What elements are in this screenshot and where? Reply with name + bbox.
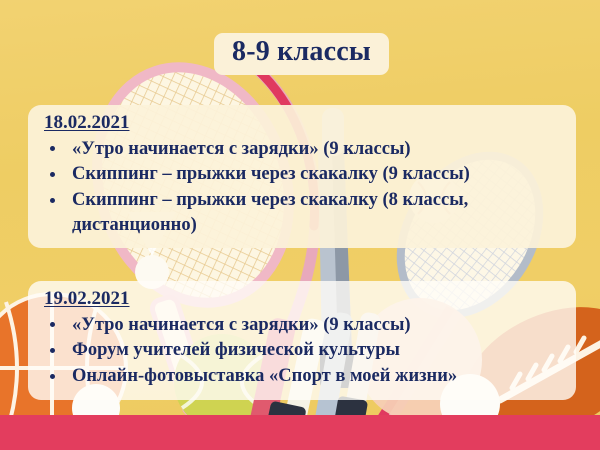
bullet-dot-icon [50,374,55,379]
event-label: Форум учителей физической культуры [72,340,400,360]
poster-canvas: 8-9 классы 18.02.2021 «Утро начинается с… [0,0,600,450]
schedule-panel-day-2: 19.02.2021 «Утро начинается с зарядки» (… [28,281,576,400]
list-item: «Утро начинается с зарядки» (9 классы) [36,313,564,338]
list-item: Скиппинг – прыжки через скакалку (9 клас… [36,162,564,187]
list-item: Онлайн-фотовыставка «Спорт в моей жизни» [36,364,564,389]
bullet-dot-icon [50,146,55,151]
date-heading-2: 19.02.2021 [44,288,130,310]
date-heading-1: 18.02.2021 [44,112,130,134]
event-label: Скиппинг – прыжки через скакалку (9 клас… [72,164,470,184]
bullet-dot-icon [50,322,55,327]
event-label: Онлайн-фотовыставка «Спорт в моей жизни» [72,366,457,386]
bottom-accent-bar [0,415,600,450]
event-label: «Утро начинается с зарядки» (9 классы) [72,315,411,335]
poster-title-chip: 8-9 классы [214,33,389,75]
schedule-panel-day-1: 18.02.2021 «Утро начинается с зарядки» (… [28,105,576,248]
list-item: Форум учителей физической культуры [36,338,564,363]
page-title: 8-9 классы [232,37,371,68]
list-item: «Утро начинается с зарядки» (9 классы) [36,137,564,162]
list-item: Скиппинг – прыжки через скакалку (8 клас… [36,188,564,237]
event-label: Скиппинг – прыжки через скакалку (8 клас… [72,190,468,235]
bullet-dot-icon [50,348,55,353]
event-list-day-2: «Утро начинается с зарядки» (9 классы) Ф… [36,313,564,389]
event-label: «Утро начинается с зарядки» (9 классы) [72,139,411,159]
event-list-day-1: «Утро начинается с зарядки» (9 классы) С… [36,137,564,237]
bullet-dot-icon [50,172,55,177]
bullet-dot-icon [50,198,55,203]
